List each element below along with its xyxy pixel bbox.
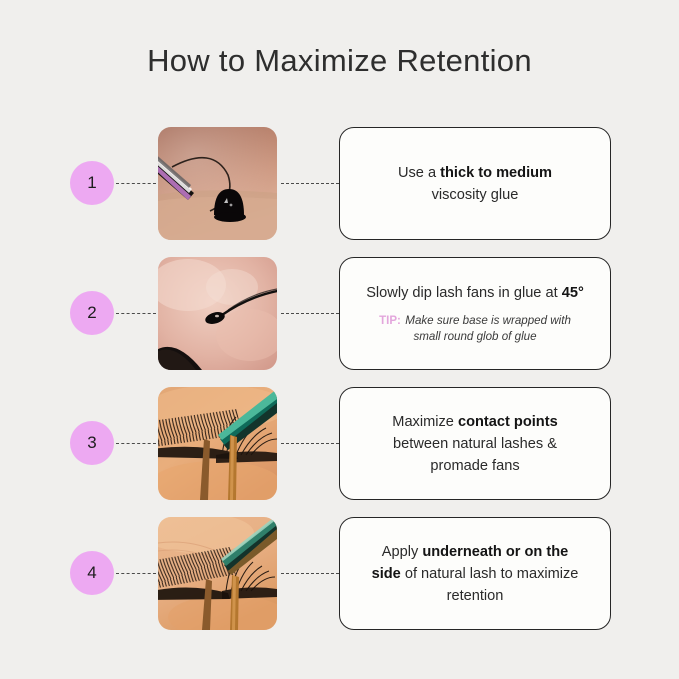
step-number-badge-4: 4: [70, 551, 114, 595]
tip-text-line-1: Make sure base is wrapped with: [405, 314, 571, 327]
tip-text-line-2: small round glob of glue: [379, 329, 571, 345]
step-text-2-line-1-bold: 45°: [562, 285, 584, 301]
step-card-1: Use a thick to medium viscosity glue: [339, 127, 611, 240]
step-row-2: 2: [0, 257, 679, 370]
step-card-2: Slowly dip lash fans in glue at 45° TIP:…: [339, 257, 611, 370]
connector-dash-right-4: [281, 573, 339, 574]
step-image-3: [158, 387, 277, 500]
step-text-1-line-1-pre: Use a: [398, 165, 440, 181]
step-text-3-line-1-bold: contact points: [458, 414, 558, 430]
step-row-3: 3: [0, 387, 679, 500]
connector-dash-right-2: [281, 313, 339, 314]
step-image-1: [158, 127, 277, 240]
step-text-1-line-1: Use a thick to medium: [398, 162, 552, 184]
step-text-3-line-1-pre: Maximize: [392, 414, 458, 430]
step-row-4: 4: [0, 517, 679, 630]
step-text-3-line-1: Maximize contact points: [392, 411, 557, 433]
connector-dash-right-3: [281, 443, 339, 444]
step-card-3: Maximize contact points between natural …: [339, 387, 611, 500]
step-text-2-line-1: Slowly dip lash fans in glue at 45°: [366, 282, 584, 304]
step-image-4: [158, 517, 277, 630]
step-card-4: Apply underneath or on the side of natur…: [339, 517, 611, 630]
step-text-4-line-2-bold: side: [372, 566, 401, 582]
step-text-4-line-3: retention: [447, 585, 504, 607]
step-number-badge-1: 1: [70, 161, 114, 205]
step-text-4-line-2-post: of natural lash to maximize: [401, 566, 579, 582]
page-title: How to Maximize Retention: [0, 43, 679, 79]
step-text-1-line-2: viscosity glue: [432, 184, 519, 206]
step-text-4-line-1: Apply underneath or on the: [382, 541, 569, 563]
step-text-2-line-1-pre: Slowly dip lash fans in glue at: [366, 285, 562, 301]
tip-label: TIP:: [379, 315, 401, 327]
connector-dash-left-3: [116, 443, 156, 444]
connector-dash-left-2: [116, 313, 156, 314]
step-text-3-line-3: promade fans: [430, 455, 519, 477]
step-tip-2-first-line: TIP: Make sure base is wrapped with: [379, 311, 571, 329]
step-number-badge-3: 3: [70, 421, 114, 465]
step-text-4-line-1-pre: Apply: [382, 544, 423, 560]
connector-dash-right-1: [281, 183, 339, 184]
step-row-1: 1: [0, 127, 679, 240]
steps-list: 1: [0, 127, 679, 647]
step-text-4-line-1-bold: underneath or on the: [422, 544, 568, 560]
connector-dash-left-1: [116, 183, 156, 184]
step-number-badge-2: 2: [70, 291, 114, 335]
step-image-2: [158, 257, 277, 370]
step-text-1-line-1-bold: thick to medium: [440, 165, 552, 181]
step-tip-2: TIP: Make sure base is wrapped with smal…: [379, 311, 571, 345]
connector-dash-left-4: [116, 573, 156, 574]
step-text-3-line-2: between natural lashes &: [393, 433, 557, 455]
step-text-4-line-2: side of natural lash to maximize: [372, 563, 579, 585]
